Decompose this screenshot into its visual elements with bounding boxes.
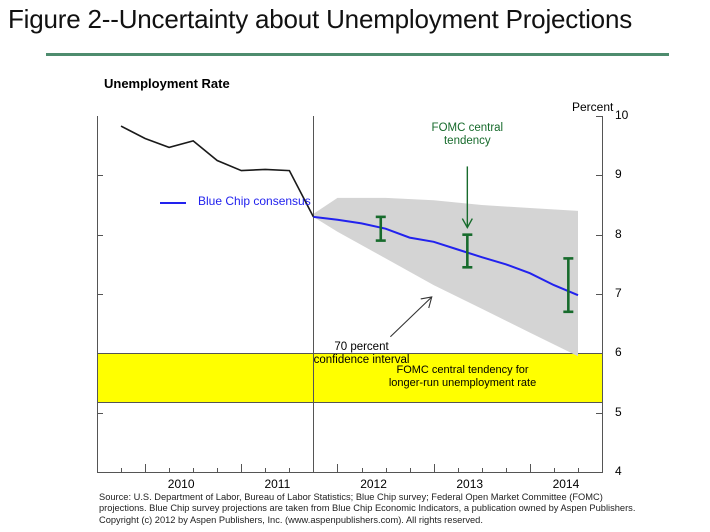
y-axis-tick-left bbox=[97, 413, 103, 414]
y-axis-label: 9 bbox=[615, 167, 622, 181]
x-axis-label: 2011 bbox=[264, 477, 290, 491]
ci-annotation-line1: 70 percent bbox=[314, 341, 410, 354]
fomc-annotation-arrow bbox=[462, 166, 472, 227]
chart-plot-area: FOMC central tendency for longer-run une… bbox=[97, 116, 603, 473]
ci-annotation-line2: confidence interval bbox=[314, 354, 410, 367]
x-axis-label: 2013 bbox=[456, 477, 483, 491]
y-axis-tick bbox=[596, 294, 602, 295]
y-axis-label: 7 bbox=[615, 286, 622, 300]
ci-arrow-shaft bbox=[390, 297, 431, 337]
y-axis-tick-left bbox=[97, 235, 103, 236]
x-axis-tick-minor bbox=[482, 468, 483, 473]
y-axis-unit-label: Percent bbox=[572, 100, 613, 114]
x-axis-tick-major bbox=[337, 464, 338, 473]
y-axis-label: 10 bbox=[615, 108, 628, 122]
source-note: Source: U.S. Department of Labor, Bureau… bbox=[99, 492, 639, 526]
y-axis-tick bbox=[596, 175, 602, 176]
x-axis-label: 2014 bbox=[553, 477, 580, 491]
legend-label-blue-chip: Blue Chip consensus bbox=[198, 194, 311, 208]
x-axis-tick-minor bbox=[410, 468, 411, 473]
x-axis-tick-minor bbox=[458, 468, 459, 473]
x-axis-tick-minor bbox=[217, 468, 218, 473]
y-axis-tick-left bbox=[97, 175, 103, 176]
x-axis-tick-minor bbox=[193, 468, 194, 473]
x-axis-tick-major bbox=[241, 464, 242, 473]
x-axis-tick-minor bbox=[362, 468, 363, 473]
chart-subtitle: Unemployment Rate bbox=[104, 76, 230, 91]
x-axis-label: 2012 bbox=[360, 477, 387, 491]
y-axis-label: 5 bbox=[615, 405, 622, 419]
blue-chip-series-line bbox=[313, 217, 578, 295]
y-axis-tick-left bbox=[97, 353, 103, 354]
y-axis-tick bbox=[596, 353, 602, 354]
y-axis-label: 4 bbox=[615, 464, 622, 478]
x-axis-tick-minor bbox=[578, 468, 579, 473]
fomc-annotation-line2: tendency bbox=[432, 135, 504, 148]
fomc-annotation-line1: FOMC central bbox=[432, 122, 504, 135]
x-axis-tick-minor bbox=[554, 468, 555, 473]
x-axis-tick-minor bbox=[506, 468, 507, 473]
fomc-error-bar bbox=[563, 258, 573, 311]
y-axis-label: 8 bbox=[615, 227, 622, 241]
y-axis-tick bbox=[596, 413, 602, 414]
y-axis-label: 6 bbox=[615, 345, 622, 359]
x-axis-tick-minor bbox=[602, 468, 603, 473]
x-axis-tick-minor bbox=[386, 468, 387, 473]
fomc-central-tendency-annotation: FOMC central tendency bbox=[432, 122, 504, 148]
confidence-interval-annotation: 70 percent confidence interval bbox=[314, 341, 410, 367]
confidence-annotation-arrow bbox=[390, 297, 431, 337]
x-axis-tick-minor bbox=[121, 468, 122, 473]
page-title: Figure 2--Uncertainty about Unemployment… bbox=[8, 4, 632, 35]
x-axis-tick-minor bbox=[265, 468, 266, 473]
data-series-svg bbox=[97, 116, 603, 473]
y-axis-tick bbox=[596, 235, 602, 236]
x-axis-tick-minor bbox=[289, 468, 290, 473]
title-divider-rule bbox=[46, 53, 669, 56]
fomc-error-bars bbox=[376, 217, 574, 312]
y-axis-tick bbox=[596, 116, 602, 117]
y-axis-tick-left bbox=[97, 294, 103, 295]
x-axis-tick-minor bbox=[313, 468, 314, 473]
x-axis-tick-major bbox=[145, 464, 146, 473]
x-axis-tick-major bbox=[530, 464, 531, 473]
x-axis-label: 2010 bbox=[168, 477, 195, 491]
legend-swatch-blue-chip bbox=[160, 202, 186, 204]
figure-page: Figure 2--Uncertainty about Unemployment… bbox=[0, 0, 710, 532]
x-axis-tick-minor bbox=[169, 468, 170, 473]
x-axis-tick-major bbox=[434, 464, 435, 473]
